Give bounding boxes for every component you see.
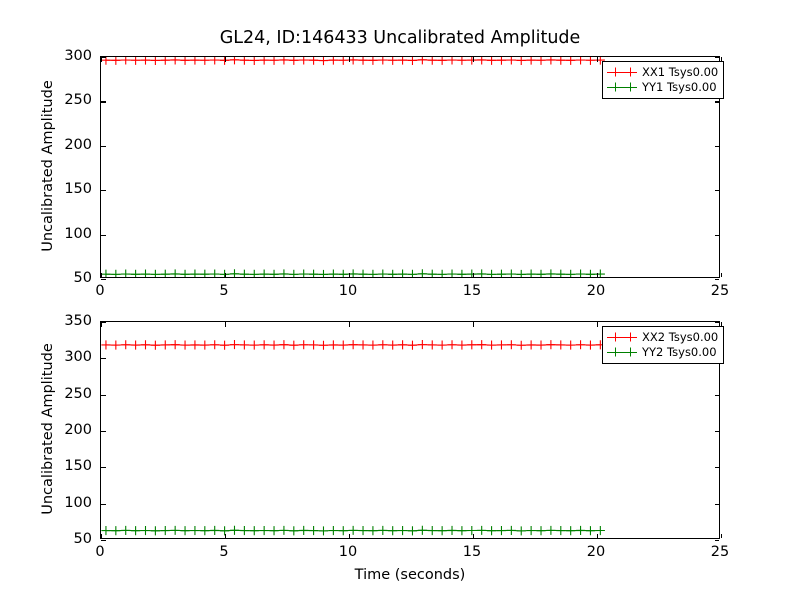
y-tick-mark-right: [715, 322, 720, 323]
legend-line-swatch: [607, 346, 637, 359]
x-tick-mark: [349, 273, 350, 278]
y-tick-mark-right: [715, 101, 720, 102]
x-tick-mark: [473, 273, 474, 278]
x-tick-mark-top: [473, 57, 474, 62]
y-tick-mark: [101, 358, 106, 359]
x-tick-label: 20: [587, 544, 605, 560]
y-axis-label: Uncalibrated Amplitude: [40, 320, 56, 538]
x-tick-mark: [225, 273, 226, 278]
x-tick-mark-top: [225, 322, 226, 327]
y-tick-mark: [101, 395, 106, 396]
series-xx2: [101, 340, 605, 350]
x-tick-mark: [721, 534, 722, 539]
x-tick-label: 10: [339, 283, 357, 299]
y-tick-mark-right: [715, 279, 720, 280]
x-tick-mark-top: [473, 322, 474, 327]
x-tick-mark-top: [597, 322, 598, 327]
x-tick-label: 0: [95, 544, 104, 560]
x-tick-label: 25: [711, 283, 729, 299]
x-tick-label: 0: [95, 283, 104, 299]
y-tick-mark: [101, 431, 106, 432]
legend-line-swatch: [607, 81, 637, 94]
y-tick-mark: [101, 190, 106, 191]
series-xx1: [101, 57, 605, 65]
y-tick-mark: [101, 279, 106, 280]
x-tick-label: 5: [219, 283, 228, 299]
legend-label: YY2 Tsys0.00: [642, 347, 717, 359]
y-tick-mark-right: [715, 235, 720, 236]
x-tick-mark-top: [225, 57, 226, 62]
x-tick-label: 25: [711, 544, 729, 560]
y-tick-mark-right: [715, 190, 720, 191]
x-tick-mark: [349, 534, 350, 539]
legend-entry: YY1 Tsys0.00: [607, 80, 718, 95]
y-tick-mark: [101, 235, 106, 236]
legend-bottom-panel: XX2 Tsys0.00YY2 Tsys0.00: [602, 326, 724, 364]
series-yy1: [101, 269, 605, 277]
y-axis-label: Uncalibrated Amplitude: [40, 55, 56, 277]
legend-entry: XX2 Tsys0.00: [607, 330, 718, 345]
series-yy2: [101, 526, 605, 536]
x-axis-label: Time (seconds): [355, 567, 466, 583]
x-tick-label: 10: [339, 544, 357, 560]
x-tick-mark: [101, 534, 102, 539]
legend-label: XX2 Tsys0.00: [642, 332, 718, 344]
y-tick-mark-right: [715, 146, 720, 147]
y-tick-mark-right: [715, 540, 720, 541]
x-tick-label: 15: [463, 544, 481, 560]
x-tick-label: 5: [219, 544, 228, 560]
x-tick-mark: [721, 273, 722, 278]
x-tick-mark: [101, 273, 102, 278]
x-tick-mark: [473, 534, 474, 539]
legend-entry: XX1 Tsys0.00: [607, 65, 718, 80]
y-tick-mark-right: [715, 467, 720, 468]
legend-line-swatch: [607, 66, 637, 79]
y-tick-mark: [101, 504, 106, 505]
y-tick-mark: [101, 146, 106, 147]
x-tick-mark: [597, 273, 598, 278]
x-tick-mark-top: [349, 57, 350, 62]
y-tick-mark-right: [715, 57, 720, 58]
y-tick-mark-right: [715, 504, 720, 505]
matplotlib-figure: GL24, ID:146433 Uncalibrated Amplitude 0…: [0, 0, 800, 600]
x-tick-mark: [597, 534, 598, 539]
x-tick-mark-top: [349, 322, 350, 327]
y-tick-mark-right: [715, 395, 720, 396]
x-tick-label: 20: [587, 283, 605, 299]
y-tick-mark: [101, 322, 106, 323]
figure-title: GL24, ID:146433 Uncalibrated Amplitude: [0, 28, 800, 48]
x-tick-mark-top: [597, 57, 598, 62]
y-tick-mark-right: [715, 431, 720, 432]
legend-label: YY1 Tsys0.00: [642, 82, 717, 94]
legend-line-swatch: [607, 331, 637, 344]
y-tick-mark: [101, 57, 106, 58]
x-tick-label: 15: [463, 283, 481, 299]
y-tick-mark: [101, 467, 106, 468]
legend-entry: YY2 Tsys0.00: [607, 345, 718, 360]
legend-label: XX1 Tsys0.00: [642, 67, 718, 79]
legend-top-panel: XX1 Tsys0.00YY1 Tsys0.00: [602, 61, 724, 99]
x-tick-mark: [225, 534, 226, 539]
y-tick-mark: [101, 540, 106, 541]
y-tick-mark: [101, 101, 106, 102]
